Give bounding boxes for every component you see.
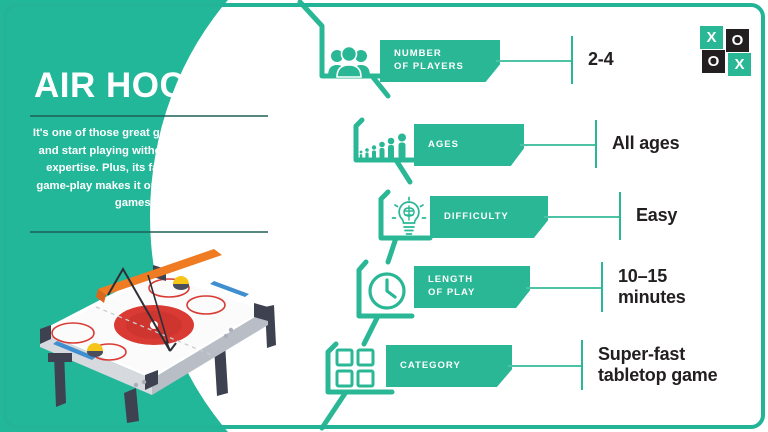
logo-cell-0: X: [700, 26, 723, 49]
tick-ages: [595, 120, 597, 168]
value-line-1: 2-4: [588, 49, 613, 70]
row-length: LENGTH OF PLAY 10–15 minutes: [356, 262, 756, 318]
connector-line-category: [508, 365, 582, 367]
tag-line-1: NUMBER: [394, 48, 486, 61]
label-tag-ages: AGES: [414, 124, 524, 166]
people-ascending-ages-icon: [352, 118, 414, 174]
tag-line-1: AGES: [428, 139, 510, 152]
tag-line-1: LENGTH: [428, 274, 516, 287]
tag-line-1: DIFFICULTY: [444, 211, 534, 224]
logo-cell-1: O: [726, 29, 749, 52]
tick-difficulty: [619, 192, 621, 240]
value-players: 2-4: [588, 49, 613, 70]
logo-cell-3: X: [728, 53, 751, 76]
value-difficulty: Easy: [636, 205, 677, 226]
value-ages: All ages: [612, 133, 679, 154]
connector-line-ages: [520, 144, 596, 146]
logo-cell-2: O: [702, 50, 725, 73]
connector-line-length: [526, 287, 602, 289]
label-tag-players: NUMBER OF PLAYERS: [380, 40, 500, 82]
row-category: CATEGORY Super-fast tabletop game: [324, 340, 754, 396]
tick-players: [571, 36, 573, 84]
value-line-1: Easy: [636, 205, 677, 226]
value-line-1: Super-fast: [598, 344, 717, 365]
people-group-icon: [318, 34, 380, 90]
label-tag-difficulty: DIFFICULTY: [430, 196, 548, 238]
infographic-canvas: AIR HOCKEY It's one of those great games…: [0, 0, 768, 432]
tick-length: [601, 262, 603, 312]
value-length: 10–15 minutes: [618, 266, 686, 308]
clock-icon: [356, 262, 418, 318]
connector-line-difficulty: [544, 216, 620, 218]
tag-line-2: OF PLAYERS: [394, 61, 486, 74]
value-line-1: All ages: [612, 133, 679, 154]
value-line-2: tabletop game: [598, 365, 717, 386]
label-tag-category: CATEGORY: [386, 345, 512, 387]
tag-line-1: CATEGORY: [400, 360, 498, 373]
row-players: NUMBER OF PLAYERS 2-4: [318, 34, 748, 90]
tag-line-2: OF PLAY: [428, 287, 516, 300]
row-difficulty: DIFFICULTY Easy: [378, 190, 758, 246]
tic-tac-toe-logo[interactable]: X O O X: [700, 26, 752, 78]
row-ages: AGES All ages: [352, 118, 752, 174]
value-category: Super-fast tabletop game: [598, 344, 717, 386]
connector-line-players: [496, 60, 572, 62]
value-line-1: 10–15: [618, 266, 686, 287]
tick-category: [581, 340, 583, 390]
label-tag-length: LENGTH OF PLAY: [414, 266, 530, 308]
grid-squares-icon: [324, 340, 386, 396]
value-line-2: minutes: [618, 287, 686, 308]
